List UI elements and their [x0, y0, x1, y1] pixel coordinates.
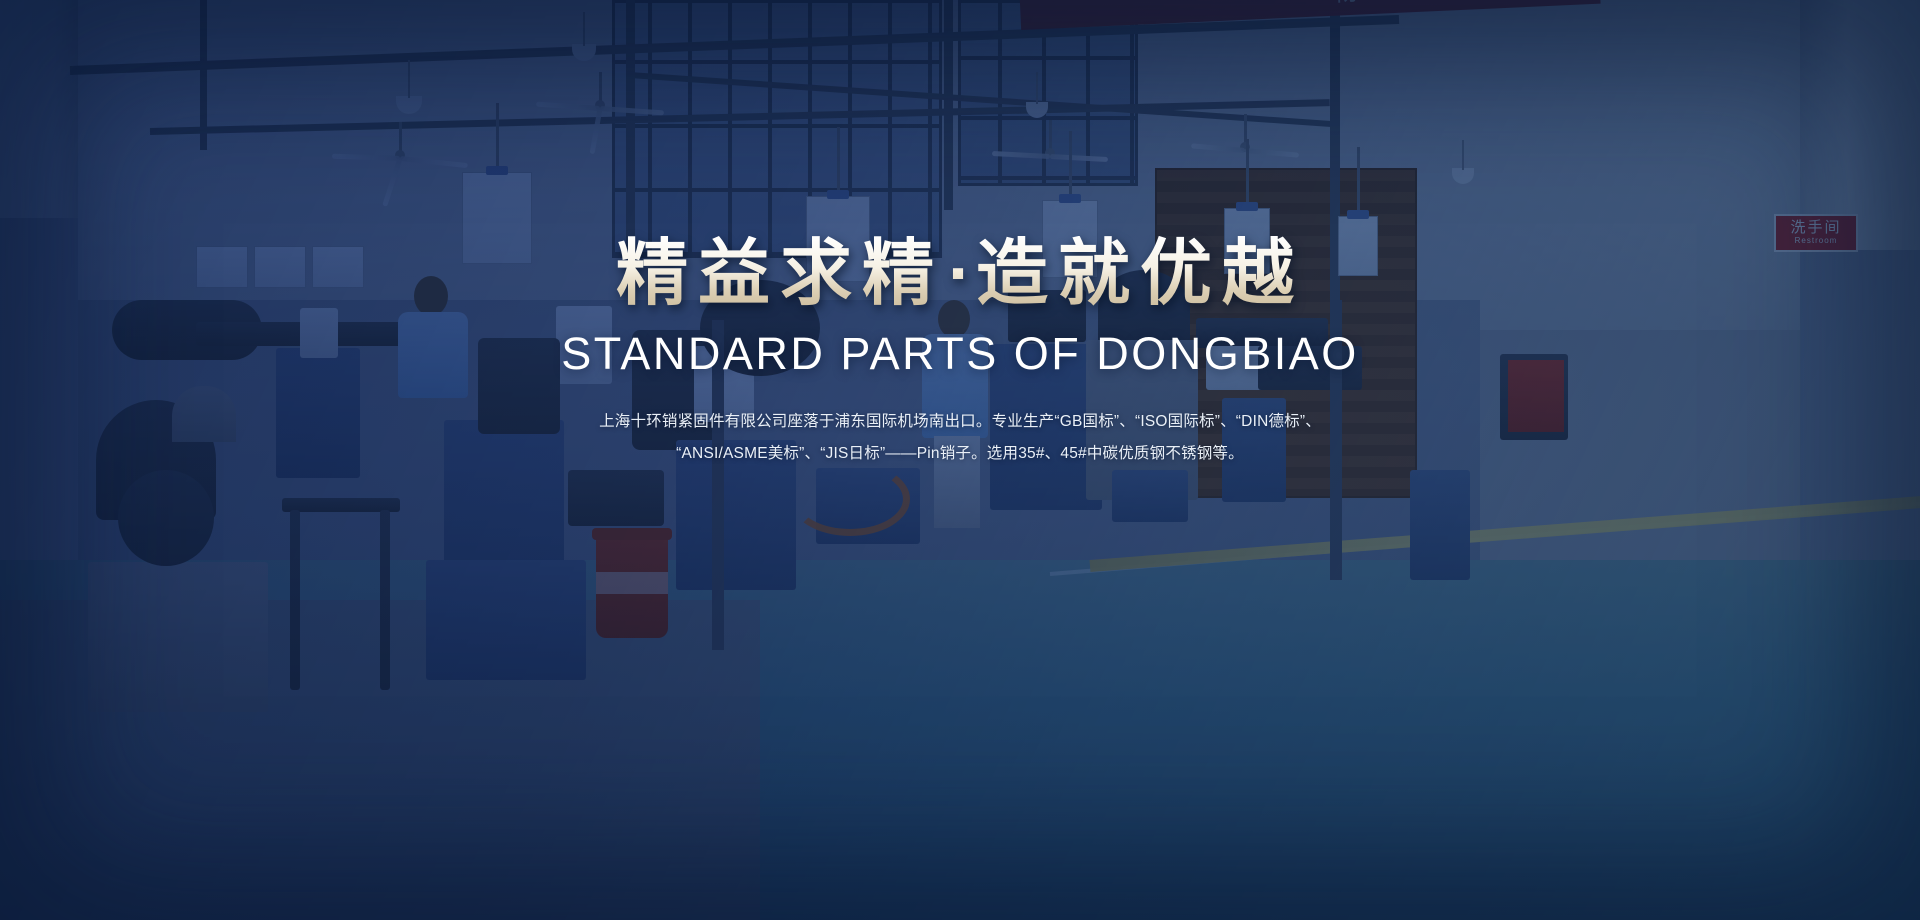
- headline-separator: ·: [944, 234, 976, 314]
- hero-copy: 精益求精·造就优越 STANDARD PARTS OF DONGBIAO 上海十…: [0, 236, 1920, 470]
- hero-description: 上海十环销紧固件有限公司座落于浦东国际机场南出口。专业生产“GB国标”、“ISO…: [580, 406, 1340, 470]
- headline-part-1: 精益求精: [616, 234, 944, 314]
- hero-banner: 物 大 物 害 洗手间 Restroom: [0, 0, 1920, 920]
- headline-part-2: 造就优越: [976, 234, 1304, 314]
- hero-subtitle: STANDARD PARTS OF DONGBIAO: [0, 328, 1920, 380]
- hero-headline: 精益求精·造就优越: [0, 236, 1920, 312]
